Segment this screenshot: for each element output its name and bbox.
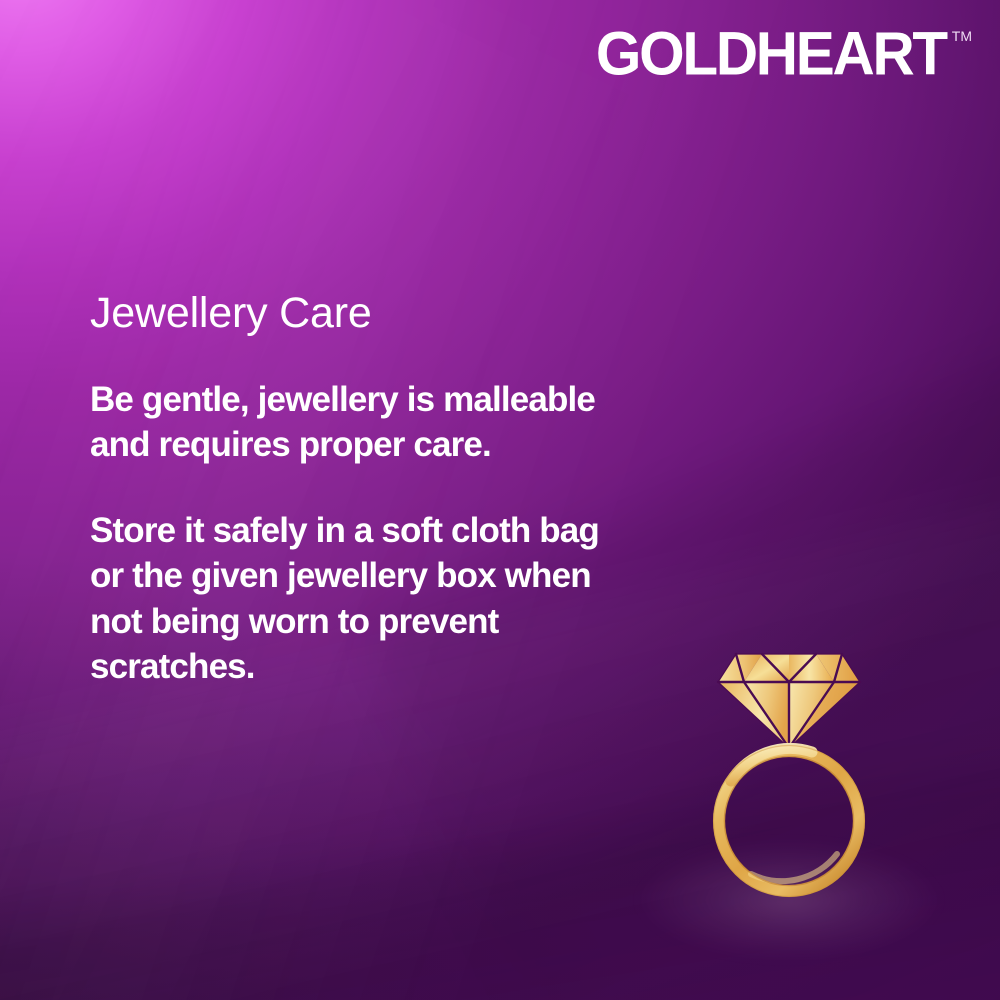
brand-logo-wordmark: GOLDHEART <box>596 24 946 84</box>
diamond-gem <box>718 654 860 748</box>
care-paragraph-2: Store it safely in a soft cloth bag or t… <box>90 508 690 690</box>
ring-band <box>714 746 865 897</box>
trademark-symbol: TM <box>952 28 972 44</box>
care-copy-block: Jewellery Care Be gentle, jewellery is m… <box>90 288 690 690</box>
care-paragraph-1: Be gentle, jewellery is malleable and re… <box>90 377 690 468</box>
diamond-ring-illustration <box>694 640 884 910</box>
jewellery-care-card: GOLDHEART TM Jewellery Care Be gentle, j… <box>0 0 1000 1000</box>
page-title: Jewellery Care <box>90 288 690 339</box>
diamond-ring-icon <box>694 640 884 910</box>
brand-logo: GOLDHEART TM <box>611 24 972 79</box>
